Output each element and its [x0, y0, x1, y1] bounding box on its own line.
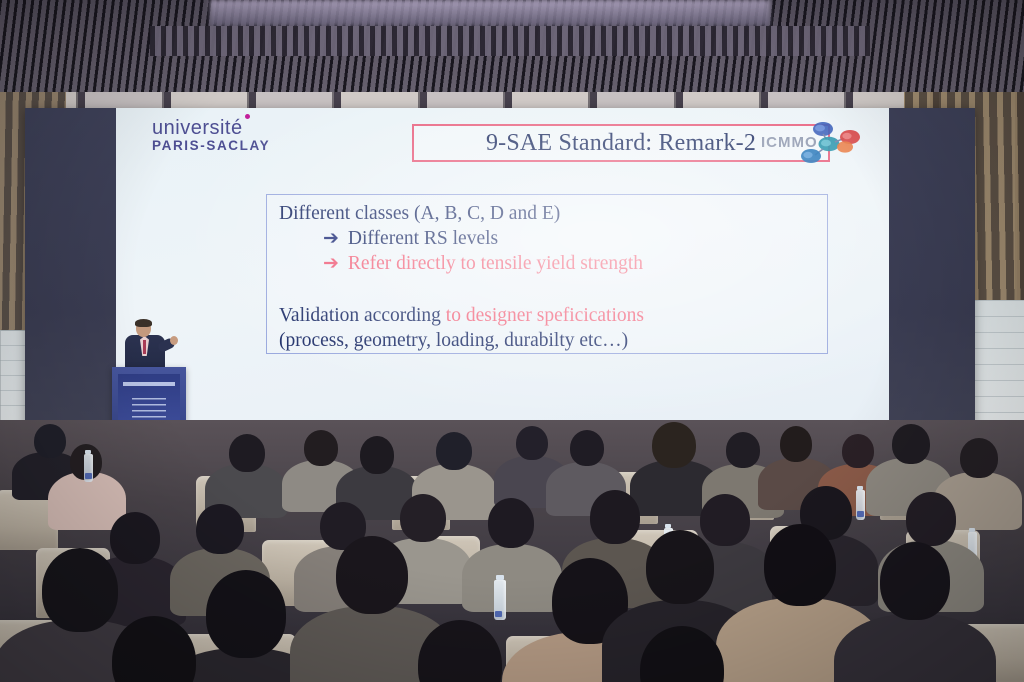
person-head: [42, 548, 118, 632]
ceiling: [0, 0, 1024, 92]
arrow-icon: ➔: [323, 228, 339, 249]
slide-line-rs-levels-text: Different RS levels: [348, 228, 498, 249]
water-bottle: [84, 454, 93, 482]
slide-line-classes-text: Different classes (A, B, C, D and E): [279, 203, 560, 224]
person-head: [336, 536, 408, 614]
person-head: [206, 570, 286, 658]
person-head: [646, 530, 714, 604]
person-head: [304, 430, 338, 466]
person-head: [436, 432, 472, 470]
slide-title: 9-SAE Standard: Remark-2: [486, 130, 756, 157]
person-head: [400, 494, 446, 542]
person-head: [700, 494, 750, 546]
water-bottle-cap: [496, 575, 504, 580]
icmmo-logo-text: ICMMO: [761, 134, 818, 151]
slide-line-rs-levels: ➔Different RS levels: [279, 226, 817, 251]
arrow-icon: ➔: [323, 253, 339, 274]
person-head: [110, 512, 160, 564]
person-head: [570, 430, 604, 466]
university-logo-line1: université: [152, 118, 243, 138]
conference-photo-scene: université PARIS-SACLAY 9-SAE Standard: …: [0, 0, 1024, 682]
person-head: [842, 434, 874, 468]
person-head: [764, 524, 836, 606]
ceiling-beam: [150, 26, 870, 56]
person-head: [892, 424, 930, 464]
water-bottle-cap: [85, 450, 91, 454]
person-head: [516, 426, 548, 460]
slide-line-classes: Different classes (A, B, C, D and E): [279, 201, 817, 226]
speaker-presenter: [118, 320, 176, 372]
person-head: [726, 432, 760, 468]
water-bottle: [494, 580, 506, 620]
ceiling-light-glow: [210, 0, 770, 26]
accent-dot-icon: [245, 114, 250, 119]
person-head: [960, 438, 998, 478]
speaker-hair: [135, 319, 152, 327]
slide-line-yield-strength: ➔Refer directly to tensile yield strengt…: [279, 251, 817, 276]
slide-body-box: Different classes (A, B, C, D and E) ➔Di…: [266, 194, 828, 354]
slide-line-validation: Validation according to designer spefici…: [279, 303, 817, 328]
slide-line-validation-detail-text: (process, geometry, loading, durabilty e…: [279, 330, 628, 351]
person-head: [880, 542, 950, 620]
person-head: [652, 422, 696, 468]
university-logo-line2: PARIS-SACLAY: [152, 139, 312, 153]
spacer: [279, 276, 817, 303]
water-bottle-cap: [857, 486, 863, 490]
person-shoulders: [462, 544, 562, 612]
person-head: [780, 426, 812, 462]
person-head: [229, 434, 265, 472]
person-head: [196, 504, 244, 554]
slide-canvas: université PARIS-SACLAY 9-SAE Standard: …: [116, 108, 889, 448]
university-paris-saclay-logo: université PARIS-SACLAY: [152, 118, 312, 153]
icmmo-logo: ICMMO: [761, 118, 871, 166]
person-head: [488, 498, 534, 548]
water-bottle-cap: [665, 524, 671, 528]
slide-line-yield-strength-text: Refer directly to tensile yield strength: [348, 253, 643, 274]
audience-seating: [0, 420, 1024, 682]
screen-bezel-right: [889, 108, 975, 448]
slide-line-validation-detail: (process, geometry, loading, durabilty e…: [279, 328, 817, 353]
person-head: [360, 436, 394, 474]
slide-line-validation-emphasis: to designer speficications: [446, 305, 644, 326]
water-bottle: [856, 490, 865, 520]
slide-line-validation-text: Validation according: [279, 305, 446, 326]
person-head: [34, 424, 66, 458]
podium-banner-title: [123, 382, 175, 386]
screen-bezel-left: [25, 108, 116, 448]
speaker-tie: [143, 340, 146, 354]
person-head: [590, 490, 640, 544]
speaker-hand: [170, 336, 178, 345]
water-bottle-cap: [969, 528, 975, 532]
person-head: [906, 492, 956, 546]
